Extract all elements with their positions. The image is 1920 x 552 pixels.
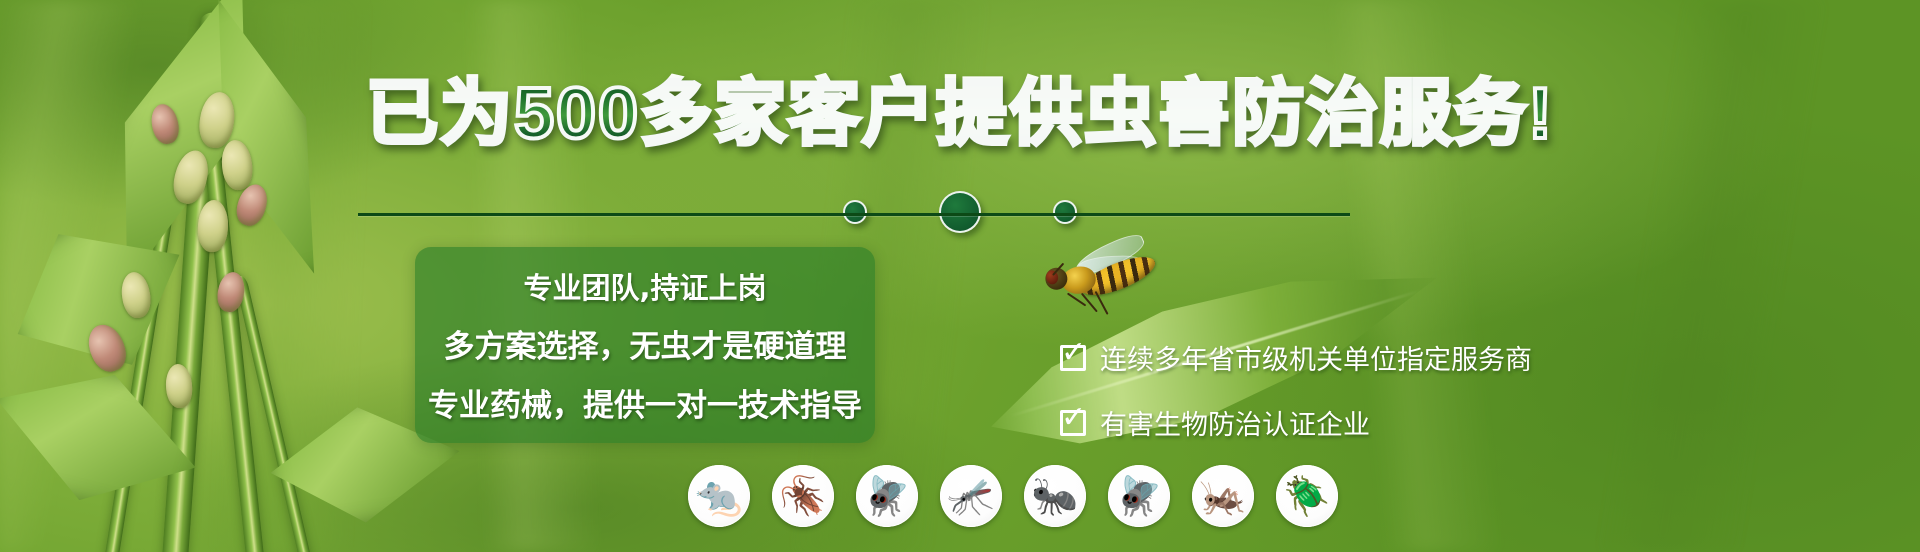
decor-dot-small-left — [843, 200, 867, 224]
rat-icon[interactable]: 🐀 — [688, 465, 750, 527]
fly-icon[interactable]: 🪰 — [1108, 465, 1170, 527]
credential-label-1: 连续多年省市级机关单位指定服务商 — [1100, 338, 1532, 377]
flea-icon[interactable]: 🦗 — [1192, 465, 1254, 527]
decor-dot-large-center — [939, 191, 981, 233]
check-tick-glyph: ✓ — [1061, 338, 1091, 368]
selling-point-1: 专业团队,持证上岗 — [523, 265, 766, 307]
credential-row: ✓ 连续多年省市级机关单位指定服务商 — [1060, 338, 1532, 377]
pest-icon-row: 🐀 🪳 🪰 🦟 🐜 🪰 🦗 🪲 — [688, 465, 1338, 527]
credential-label-2: 有害生物防治认证企业 — [1100, 403, 1370, 442]
check-tick-glyph: ✓ — [1061, 403, 1091, 433]
ant-icon[interactable]: 🐜 — [1024, 465, 1086, 527]
cockroach-icon[interactable]: 🪳 — [772, 465, 834, 527]
credentials-checklist: ✓ 连续多年省市级机关单位指定服务商 ✓ 有害生物防治认证企业 — [1060, 338, 1532, 442]
checkbox-checked-icon: ✓ — [1060, 410, 1086, 436]
mosquito-icon[interactable]: 🦟 — [940, 465, 1002, 527]
divider-rule — [358, 213, 1350, 216]
checkbox-checked-icon: ✓ — [1060, 345, 1086, 371]
banner-headline: 已为500多家客户提供虫害防治服务! — [0, 78, 1920, 150]
pest-control-hero-banner: 已为500多家客户提供虫害防治服务! 专业团队,持证上岗 多方案选择，无虫才是硬… — [0, 0, 1920, 552]
credential-row: ✓ 有害生物防治认证企业 — [1060, 403, 1532, 442]
decor-dots-group — [0, 191, 1920, 233]
selling-point-2: 多方案选择，无虫才是硬道理 — [444, 321, 847, 366]
decor-dot-small-right — [1053, 200, 1077, 224]
fly-icon[interactable]: 🪰 — [856, 465, 918, 527]
selling-points-text-group: 专业团队,持证上岗 多方案选择，无虫才是硬道理 专业药械，提供一对一技术指导 — [415, 247, 875, 443]
selling-point-3: 专业药械，提供一对一技术指导 — [428, 380, 862, 425]
bedbug-icon[interactable]: 🪲 — [1276, 465, 1338, 527]
